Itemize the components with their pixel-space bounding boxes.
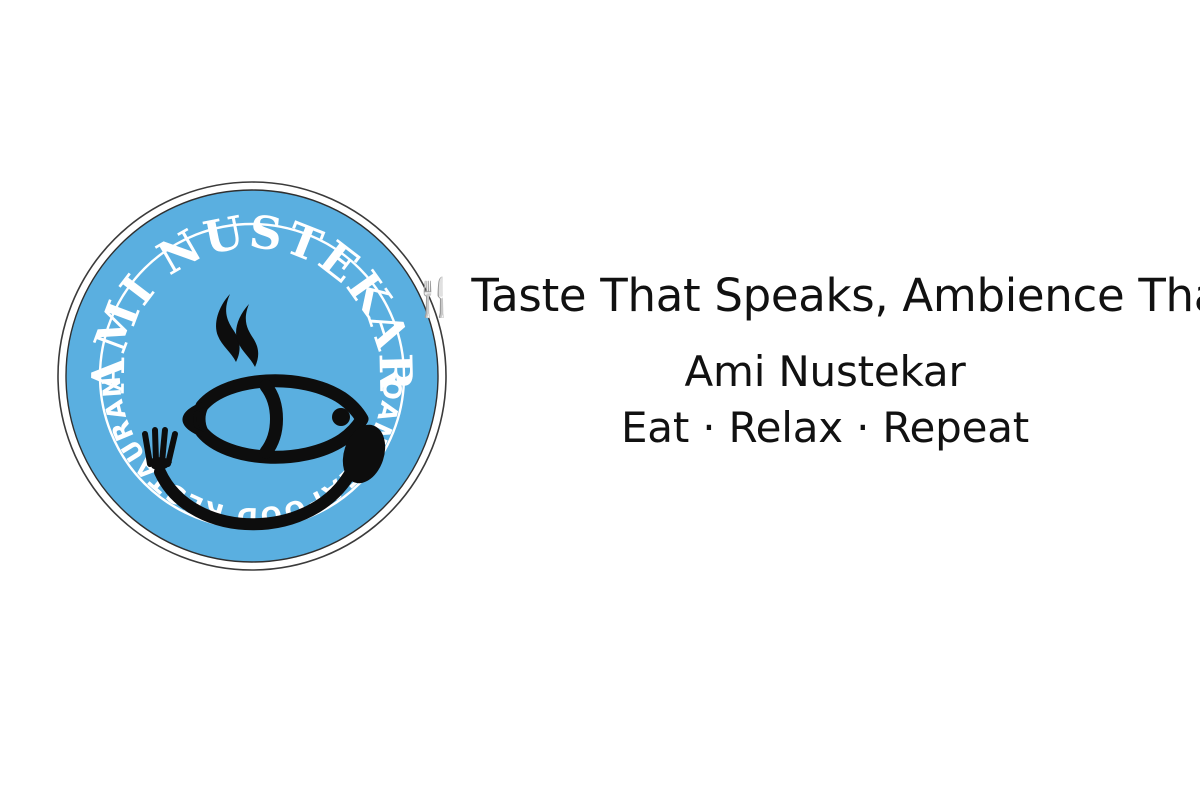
fish-eye-icon (332, 408, 350, 426)
hero-headline: Taste That Speaks, Ambience That (471, 268, 1200, 324)
hero-brand-name: Ami Nustekar (460, 346, 1190, 398)
hero-headline-row: 🍴 Taste That Speaks, Ambience That (460, 268, 1190, 324)
page-root: AMI NUSTEKAR GOAN SEAFOOD RESTAURANT (0, 0, 1200, 800)
logo-svg: AMI NUSTEKAR GOAN SEAFOOD RESTAURANT (52, 176, 452, 576)
hero-text-panel: 🍴 Taste That Speaks, Ambience That Ami N… (460, 268, 1190, 454)
hero-tagline: Eat · Relax · Repeat (460, 402, 1190, 454)
restaurant-logo: AMI NUSTEKAR GOAN SEAFOOD RESTAURANT (52, 176, 452, 576)
fork-and-knife-icon: 🍴 (412, 279, 458, 316)
